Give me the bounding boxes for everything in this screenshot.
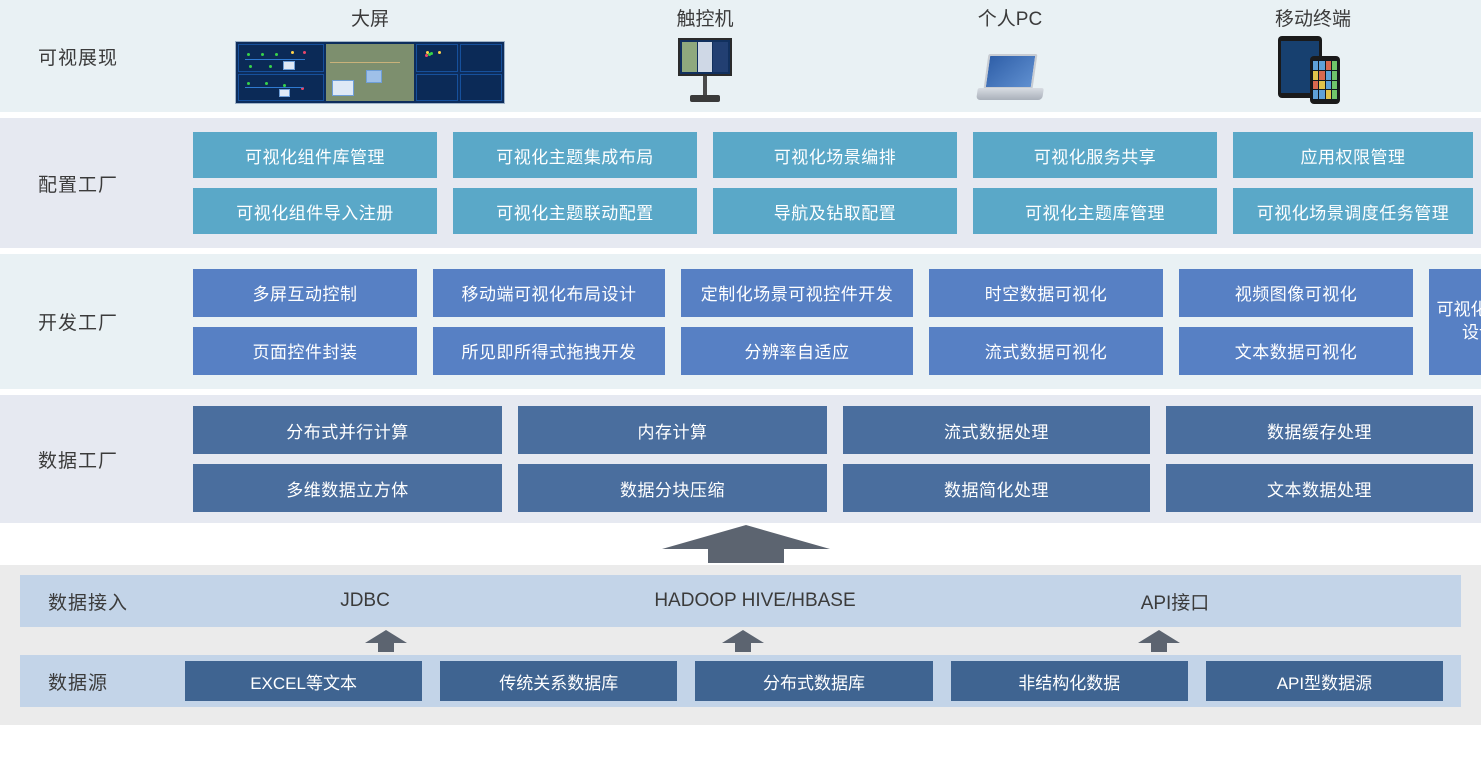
config-card[interactable]: 可视化主题库管理	[973, 188, 1217, 234]
dev-card[interactable]: 定制化场景可视控件开发	[681, 269, 913, 317]
data-column-3: 流式数据处理 数据简化处理	[835, 406, 1158, 512]
dev-card[interactable]: 页面控件封装	[193, 327, 417, 375]
touch-kiosk-icon	[678, 38, 732, 104]
device-big-screen: 大屏	[185, 0, 555, 112]
config-column-3: 可视化场景编排 导航及钻取配置	[705, 132, 965, 234]
data-source-items: EXCEL等文本 传统关系数据库 分布式数据库 非结构化数据 API型数据源	[185, 661, 1461, 701]
row-label-config-factory: 配置工厂	[0, 170, 185, 197]
row-data-source: 数据源 EXCEL等文本 传统关系数据库 分布式数据库 非结构化数据 API型数…	[20, 655, 1461, 707]
device-personal-pc: 个人PC	[855, 0, 1165, 112]
data-access-item-hadoop[interactable]: HADOOP HIVE/HBASE	[545, 590, 965, 612]
data-factory-cards: 分布式并行计算 多维数据立方体 内存计算 数据分块压缩 流式数据处理 数据简化处…	[185, 406, 1481, 512]
config-card[interactable]: 可视化组件库管理	[193, 132, 437, 178]
data-column-4: 数据缓存处理 文本数据处理	[1158, 406, 1481, 512]
data-card[interactable]: 分布式并行计算	[193, 406, 502, 454]
row-label-data-factory: 数据工厂	[0, 446, 185, 473]
data-source-card[interactable]: 传统关系数据库	[440, 661, 677, 701]
data-card[interactable]: 数据简化处理	[843, 464, 1150, 512]
config-card[interactable]: 可视化主题集成布局	[453, 132, 697, 178]
dev-column-3: 定制化场景可视控件开发 分辨率自适应	[673, 269, 921, 375]
config-card[interactable]: 可视化场景调度任务管理	[1233, 188, 1473, 234]
device-caption-big-screen: 大屏	[351, 4, 389, 31]
dev-column-2: 移动端可视化布局设计 所见即所得式拖拽开发	[425, 269, 673, 375]
row-data-factory: 数据工厂 分布式并行计算 多维数据立方体 内存计算 数据分块压缩 流式数据处理 …	[0, 395, 1481, 523]
row-dev-factory: 开发工厂 多屏互动控制 页面控件封装 移动端可视化布局设计 所见即所得式拖拽开发…	[0, 254, 1481, 389]
data-source-card[interactable]: 非结构化数据	[951, 661, 1188, 701]
data-card[interactable]: 流式数据处理	[843, 406, 1150, 454]
data-card[interactable]: 内存计算	[518, 406, 827, 454]
dev-card[interactable]: 流式数据可视化	[929, 327, 1163, 375]
dev-column-5: 视频图像可视化 文本数据可视化	[1171, 269, 1421, 375]
row-label-data-source: 数据源	[20, 668, 185, 695]
row-config-factory: 配置工厂 可视化组件库管理 可视化组件导入注册 可视化主题集成布局 可视化主题联…	[0, 118, 1481, 248]
config-card[interactable]: 可视化服务共享	[973, 132, 1217, 178]
config-card[interactable]: 应用权限管理	[1233, 132, 1473, 178]
config-column-4: 可视化服务共享 可视化主题库管理	[965, 132, 1225, 234]
dev-column-1: 多屏互动控制 页面控件封装	[185, 269, 425, 375]
device-list: 大屏	[185, 0, 1481, 112]
data-bottom-panel: 数据接入 JDBC HADOOP HIVE/HBASE API接口 数据源 EX…	[0, 565, 1481, 725]
dev-card[interactable]: 多屏互动控制	[193, 269, 417, 317]
config-column-1: 可视化组件库管理 可视化组件导入注册	[185, 132, 445, 234]
config-card[interactable]: 可视化组件导入注册	[193, 188, 437, 234]
dev-factory-body: 多屏互动控制 页面控件封装 移动端可视化布局设计 所见即所得式拖拽开发 定制化场…	[185, 269, 1481, 375]
data-source-card[interactable]: EXCEL等文本	[185, 661, 422, 701]
data-column-2: 内存计算 数据分块压缩	[510, 406, 835, 512]
device-touch-kiosk: 触控机	[555, 0, 855, 112]
row-visual-presentation: 可视展现 大屏	[0, 0, 1481, 112]
device-caption-mobile-terminal: 移动终端	[1275, 4, 1351, 31]
small-up-arrow-icon	[365, 630, 407, 652]
main-flow-arrow-area	[0, 523, 1481, 565]
visual-devices-body: 大屏	[185, 0, 1481, 112]
data-card[interactable]: 文本数据处理	[1166, 464, 1473, 512]
config-factory-body: 可视化组件库管理 可视化组件导入注册 可视化主题集成布局 可视化主题联动配置 可…	[185, 132, 1481, 234]
config-column-2: 可视化主题集成布局 可视化主题联动配置	[445, 132, 705, 234]
dev-card[interactable]: 所见即所得式拖拽开发	[433, 327, 665, 375]
dev-card[interactable]: 时空数据可视化	[929, 269, 1163, 317]
device-caption-personal-pc: 个人PC	[978, 4, 1042, 31]
config-factory-cards: 可视化组件库管理 可视化组件导入注册 可视化主题集成布局 可视化主题联动配置 可…	[185, 132, 1481, 234]
tablet-phone-icon	[1278, 36, 1348, 104]
device-mobile-terminal: 移动终端	[1165, 0, 1461, 112]
dev-card[interactable]: 视频图像可视化	[1179, 269, 1413, 317]
config-card[interactable]: 可视化主题联动配置	[453, 188, 697, 234]
data-card[interactable]: 数据缓存处理	[1166, 406, 1473, 454]
data-source-card[interactable]: API型数据源	[1206, 661, 1443, 701]
data-factory-body: 分布式并行计算 多维数据立方体 内存计算 数据分块压缩 流式数据处理 数据简化处…	[185, 406, 1481, 512]
device-caption-touch-kiosk: 触控机	[676, 4, 733, 31]
dev-card[interactable]: 分辨率自适应	[681, 327, 913, 375]
config-card[interactable]: 导航及钻取配置	[713, 188, 957, 234]
dev-column-4: 时空数据可视化 流式数据可视化	[921, 269, 1171, 375]
small-up-arrow-icon	[722, 630, 764, 652]
data-card[interactable]: 数据分块压缩	[518, 464, 827, 512]
row-data-access: 数据接入 JDBC HADOOP HIVE/HBASE API接口	[20, 575, 1461, 627]
dev-card[interactable]: 文本数据可视化	[1179, 327, 1413, 375]
config-column-5: 应用权限管理 可视化场景调度任务管理	[1225, 132, 1481, 234]
big-screen-wall-icon	[235, 41, 505, 104]
data-card[interactable]: 多维数据立方体	[193, 464, 502, 512]
dev-factory-cards: 多屏互动控制 页面控件封装 移动端可视化布局设计 所见即所得式拖拽开发 定制化场…	[185, 269, 1481, 375]
data-source-card[interactable]: 分布式数据库	[695, 661, 932, 701]
data-access-item-jdbc[interactable]: JDBC	[185, 590, 545, 612]
laptop-icon	[977, 54, 1043, 104]
big-up-arrow-icon	[662, 525, 830, 563]
dev-card-interaction-design[interactable]: 可视化交互设计	[1429, 269, 1481, 375]
data-source-arrows	[20, 627, 1461, 655]
config-card[interactable]: 可视化场景编排	[713, 132, 957, 178]
data-access-item-api[interactable]: API接口	[965, 588, 1385, 615]
row-label-data-access: 数据接入	[20, 588, 185, 615]
row-label-visual-presentation: 可视展现	[0, 43, 185, 70]
data-column-1: 分布式并行计算 多维数据立方体	[185, 406, 510, 512]
row-label-dev-factory: 开发工厂	[0, 308, 185, 335]
small-up-arrow-icon	[1138, 630, 1180, 652]
architecture-diagram: 可视展现 大屏	[0, 0, 1481, 758]
data-access-items: JDBC HADOOP HIVE/HBASE API接口	[185, 588, 1461, 615]
dev-card[interactable]: 移动端可视化布局设计	[433, 269, 665, 317]
